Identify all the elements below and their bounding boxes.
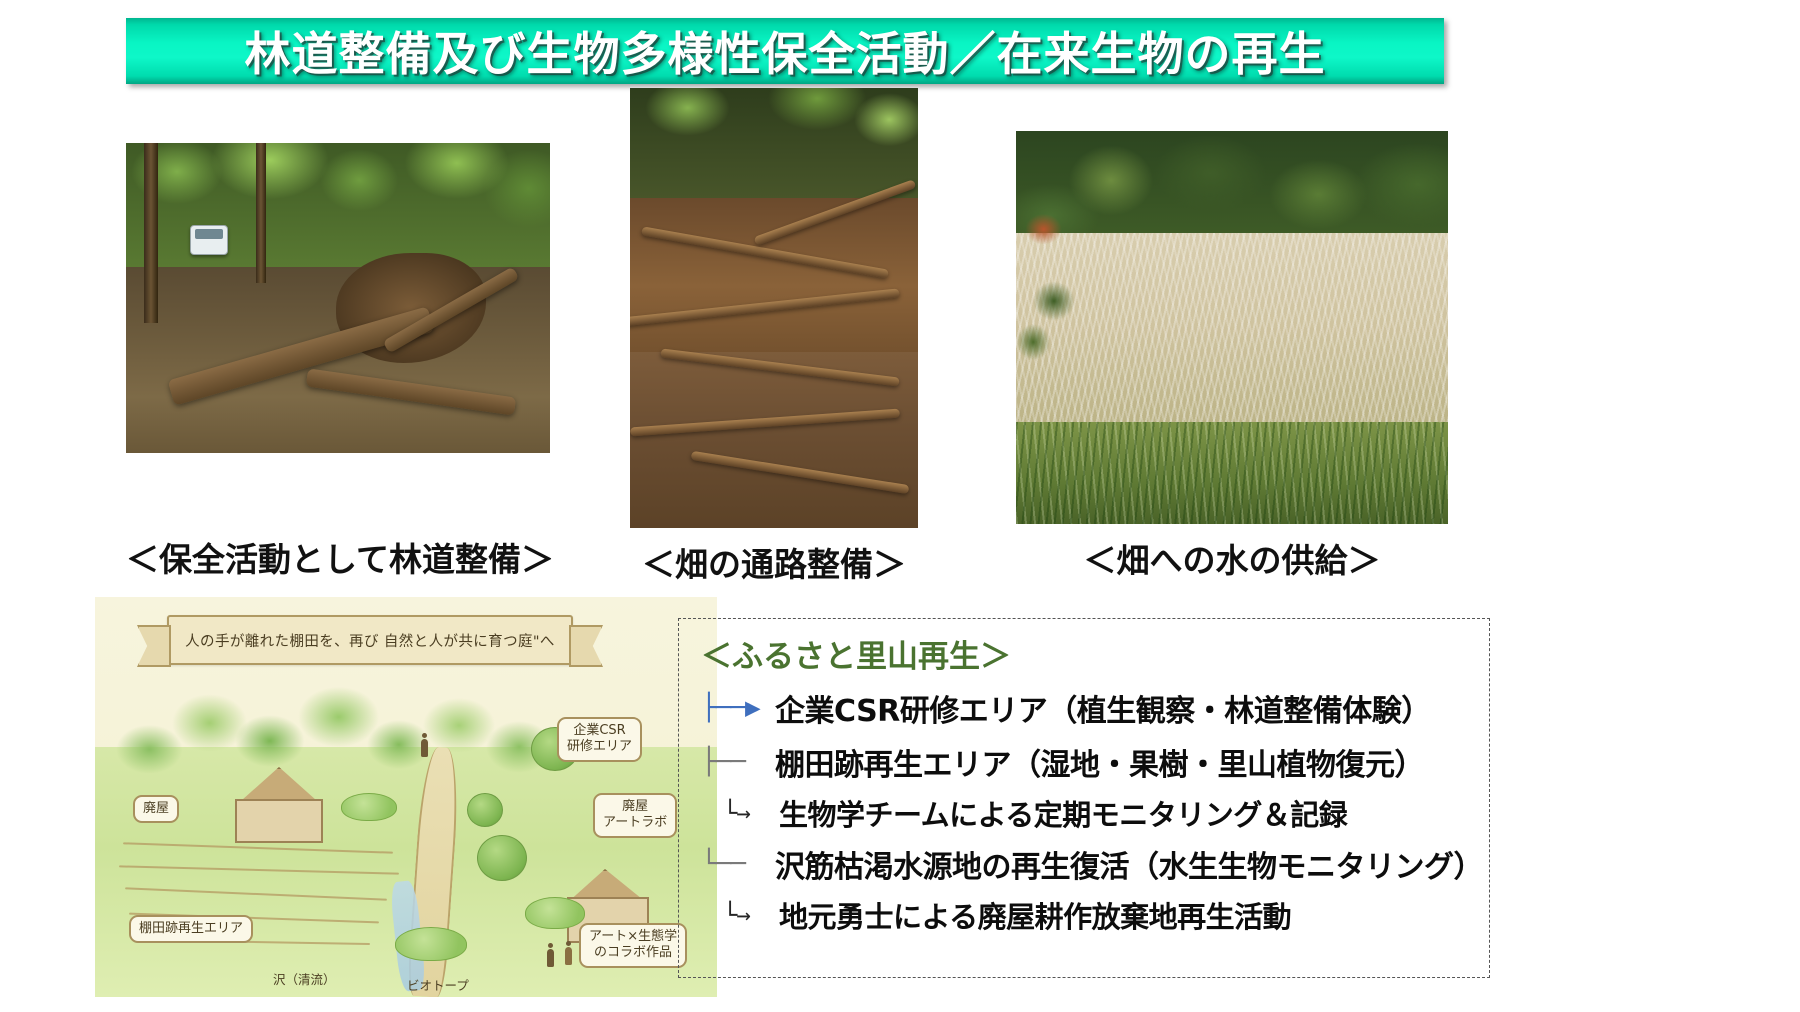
- label-csr-line2: 研修エリア: [567, 739, 632, 754]
- label-corporate-csr-area: 企業CSR 研修エリア: [557, 717, 642, 762]
- branch-corner-arrow-icon: └→: [723, 801, 779, 825]
- label-collab-line1: アート×生態学: [589, 929, 677, 944]
- label-stream: 沢（清流）: [273, 969, 336, 988]
- photo1-standing-tree: [256, 143, 266, 283]
- treebox-heading: ＜ふるさと里山再生＞: [701, 631, 1011, 676]
- tree-row-tanada: ├── 棚田跡再生エリア（湿地・果樹・里山植物復元）: [701, 735, 1483, 789]
- label-tanada-text: 棚田跡再生エリア: [139, 921, 243, 936]
- photo1-vehicle: [190, 225, 228, 255]
- branch-tee-icon: ├──: [701, 749, 775, 775]
- title-banner: 林道整備及び生物多様性保全活動／在来生物の再生: [126, 18, 1444, 84]
- illustration-tree: [467, 793, 503, 827]
- tree-row-csr: ├──▶ 企業CSR研修エリア（植生観察・林道整備体験）: [701, 681, 1483, 735]
- treebox-rows: ├──▶ 企業CSR研修エリア（植生観察・林道整備体験） ├── 棚田跡再生エリ…: [701, 681, 1483, 939]
- label-collab-line2: のコラボ作品: [594, 945, 672, 960]
- tree-row-csr-label: 企業CSR研修エリア（植生観察・林道整備体験）: [775, 686, 1431, 730]
- label-abandoned-house: 廃屋: [133, 795, 179, 823]
- label-terrace-regeneration-area: 棚田跡再生エリア: [129, 915, 253, 943]
- satoyama-illustration: 人の手が離れた棚田を、再び 自然と人が共に育つ庭"へ 企業CSR 研修エリア 廃…: [95, 597, 717, 997]
- illustration-person: [421, 739, 428, 757]
- branch-corner-icon: └──: [701, 851, 775, 877]
- label-art-lab: 廃屋 アートラボ: [593, 793, 677, 838]
- photo3-caption: ＜畑への水の供給＞: [1016, 534, 1448, 582]
- tree-row-tanada-label: 棚田跡再生エリア（湿地・果樹・里山植物復元）: [775, 740, 1424, 784]
- tree-row-water-source-label: 沢筋枯渇水源地の再生復活（水生生物モニタリング）: [775, 842, 1483, 886]
- branch-arrow-icon: ├──▶: [701, 695, 775, 721]
- photo-susuki-grass-water-supply: [1016, 131, 1448, 524]
- illustration-person: [565, 947, 572, 965]
- label-csr-line1: 企業CSR: [573, 723, 625, 738]
- page-title: 林道整備及び生物多様性保全活動／在来生物の再生: [245, 18, 1326, 84]
- photo-field-path-roots: [630, 88, 918, 528]
- label-art-ecology-collab: アート×生態学 のコラボ作品: [579, 923, 687, 968]
- fruit-tree: [477, 835, 527, 881]
- illustration-ribbon-banner: 人の手が離れた棚田を、再び 自然と人が共に育つ庭"へ: [167, 615, 573, 665]
- illustration-shrub: [395, 927, 467, 961]
- house-body: [235, 799, 323, 843]
- photo3-foreground-grass: [1016, 422, 1448, 524]
- tree-row-monitoring: └→ 生物学チームによる定期モニタリング＆記録: [701, 789, 1483, 837]
- photo1-standing-tree: [144, 143, 158, 323]
- illustration-person: [547, 949, 554, 967]
- photo2-slope: [630, 198, 918, 374]
- ribbon-banner-text: 人の手が離れた棚田を、再び 自然と人が共に育つ庭"へ: [185, 630, 555, 651]
- photo3-autumn-shrub: [1016, 178, 1085, 382]
- tree-row-monitoring-label: 生物学チームによる定期モニタリング＆記録: [779, 792, 1347, 834]
- tree-row-local-volunteers: └→ 地元勇士による廃屋耕作放棄地再生活動: [701, 891, 1483, 939]
- label-artlab-line1: 廃屋: [622, 799, 648, 814]
- label-haioku-text: 廃屋: [143, 801, 169, 816]
- illustration-forest: [115, 675, 545, 795]
- illustration-shrub: [341, 793, 397, 821]
- tree-row-local-volunteers-label: 地元勇士による廃屋耕作放棄地再生活動: [779, 894, 1291, 936]
- branch-corner-arrow-icon: └→: [723, 903, 779, 927]
- photo1-caption: ＜保全活動として林道整備＞: [126, 533, 550, 581]
- photo1-canopy: [126, 143, 550, 286]
- satoyama-regeneration-box: ＜ふるさと里山再生＞ ├──▶ 企業CSR研修エリア（植生観察・林道整備体験） …: [678, 618, 1490, 978]
- photo2-caption: ＜畑の通路整備＞: [630, 538, 918, 586]
- illustration-shrub: [525, 897, 585, 929]
- photo-forest-road-fallen-tree: [126, 143, 550, 453]
- label-biotope: ビオトープ: [407, 975, 469, 994]
- tree-row-water-source: └── 沢筋枯渇水源地の再生復活（水生生物モニタリング）: [701, 837, 1483, 891]
- label-artlab-line2: アートラボ: [603, 815, 667, 830]
